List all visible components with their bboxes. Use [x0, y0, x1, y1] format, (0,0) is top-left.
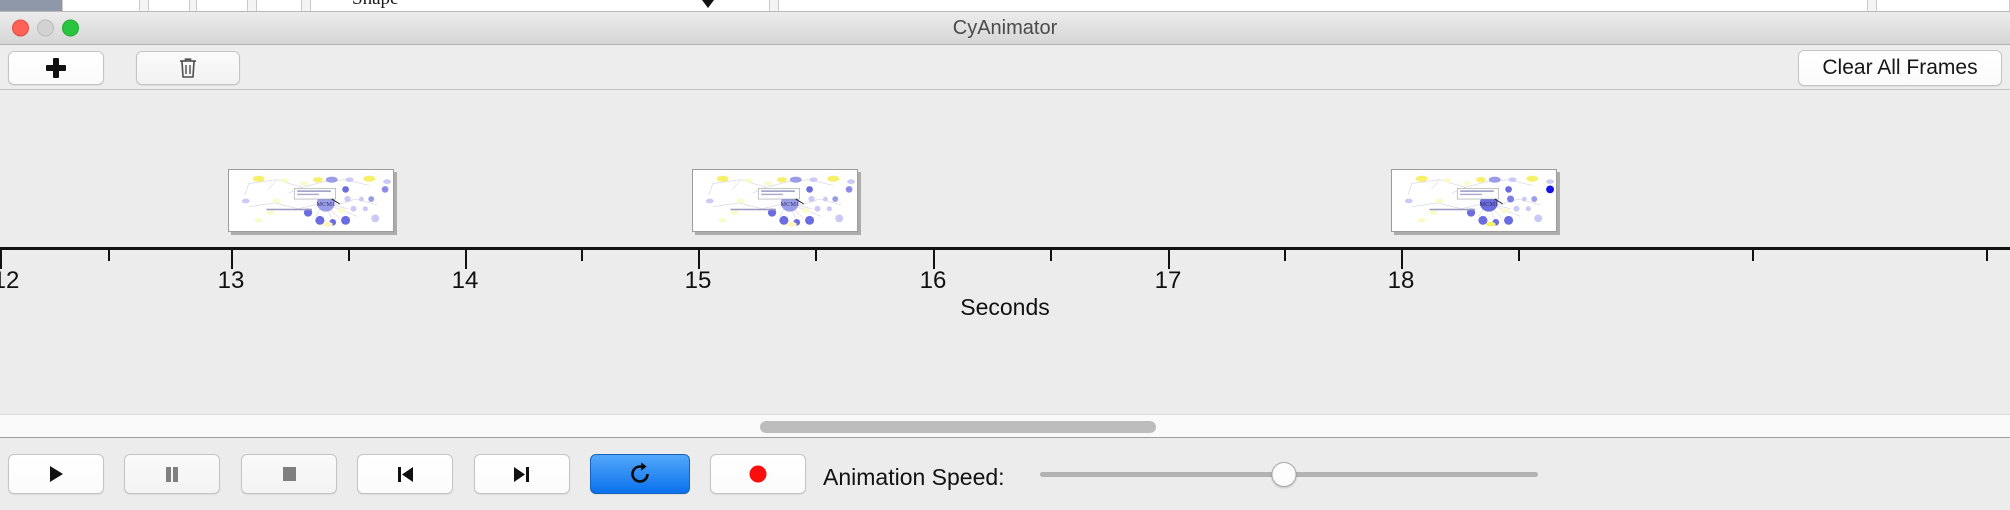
- tick-minor: [815, 250, 817, 261]
- title-bar: CyAnimator: [0, 12, 2010, 45]
- window-controls[interactable]: [12, 20, 79, 37]
- trash-icon: [178, 56, 198, 80]
- tick-minor: [348, 250, 350, 261]
- network-thumbnail: MCM1: [1392, 170, 1556, 231]
- svg-text:MCM1: MCM1: [316, 201, 335, 208]
- timeline-frame-2[interactable]: MCM1: [692, 169, 858, 232]
- network-thumbnail: MCM1: [229, 170, 393, 231]
- tick-minor: [1986, 250, 1988, 261]
- stop-icon: [278, 463, 300, 485]
- tick-minor: [1050, 250, 1052, 261]
- minimize-button[interactable]: [37, 20, 54, 37]
- record-button[interactable]: [710, 454, 806, 494]
- tick-minor: [1752, 250, 1754, 261]
- timeline-frame-3[interactable]: MCM1: [1391, 169, 1557, 232]
- stop-button[interactable]: [241, 454, 337, 494]
- slider-thumb[interactable]: [1272, 462, 1297, 487]
- timeline-scrollbar[interactable]: [0, 414, 2010, 438]
- timeline-frame-1[interactable]: MCM1: [228, 169, 394, 232]
- tick-label: 14: [452, 267, 479, 295]
- animation-speed-slider[interactable]: [1040, 454, 1538, 494]
- window-title: CyAnimator: [0, 17, 2010, 40]
- svg-text:MCM1: MCM1: [780, 201, 799, 208]
- tick-label: 12: [0, 267, 19, 295]
- loop-button[interactable]: [590, 454, 690, 494]
- tick-minor: [108, 250, 110, 261]
- tick-label: 18: [1388, 267, 1415, 295]
- plus-icon: [45, 57, 67, 79]
- clear-all-frames-button[interactable]: Clear All Frames: [1798, 50, 2002, 86]
- play-icon: [45, 463, 67, 485]
- add-frame-button[interactable]: [8, 51, 104, 85]
- tick-minor: [1518, 250, 1520, 261]
- timeline-track[interactable]: MCM1: [0, 90, 2010, 247]
- tick-label: 15: [685, 267, 712, 295]
- cyanimator-window: Shape CyAnimator Clear All Frames: [0, 0, 2010, 510]
- background-window-strip: Shape: [0, 0, 2010, 12]
- scrollbar-thumb[interactable]: [760, 421, 1156, 433]
- tick-label: 17: [1155, 267, 1182, 295]
- background-app-label: Shape: [352, 0, 398, 10]
- svg-text:MCM1: MCM1: [1479, 201, 1498, 208]
- tick-label: 16: [920, 267, 947, 295]
- network-thumbnail: MCM1: [693, 170, 857, 231]
- pause-icon: [161, 463, 183, 485]
- skip-back-icon: [394, 463, 416, 485]
- next-frame-button[interactable]: [474, 454, 570, 494]
- ruler-baseline: [0, 247, 2010, 250]
- loop-icon: [627, 461, 653, 487]
- tick-minor: [581, 250, 583, 261]
- prev-frame-button[interactable]: [357, 454, 453, 494]
- zoom-button[interactable]: [62, 20, 79, 37]
- timeline-ruler[interactable]: 12 13 14 15 16 17 18 Seconds: [0, 247, 2010, 352]
- pause-button[interactable]: [124, 454, 220, 494]
- animation-speed-label: Animation Speed:: [823, 464, 1005, 491]
- playback-controls: Animation Speed:: [0, 439, 2010, 510]
- tick-minor: [1284, 250, 1286, 261]
- axis-title: Seconds: [0, 294, 2010, 321]
- delete-frame-button[interactable]: [136, 51, 240, 85]
- close-button[interactable]: [12, 20, 29, 37]
- tick-label: 13: [218, 267, 245, 295]
- frame-toolbar: Clear All Frames: [0, 45, 2010, 90]
- skip-forward-icon: [511, 463, 533, 485]
- record-icon: [747, 463, 769, 485]
- play-button[interactable]: [8, 454, 104, 494]
